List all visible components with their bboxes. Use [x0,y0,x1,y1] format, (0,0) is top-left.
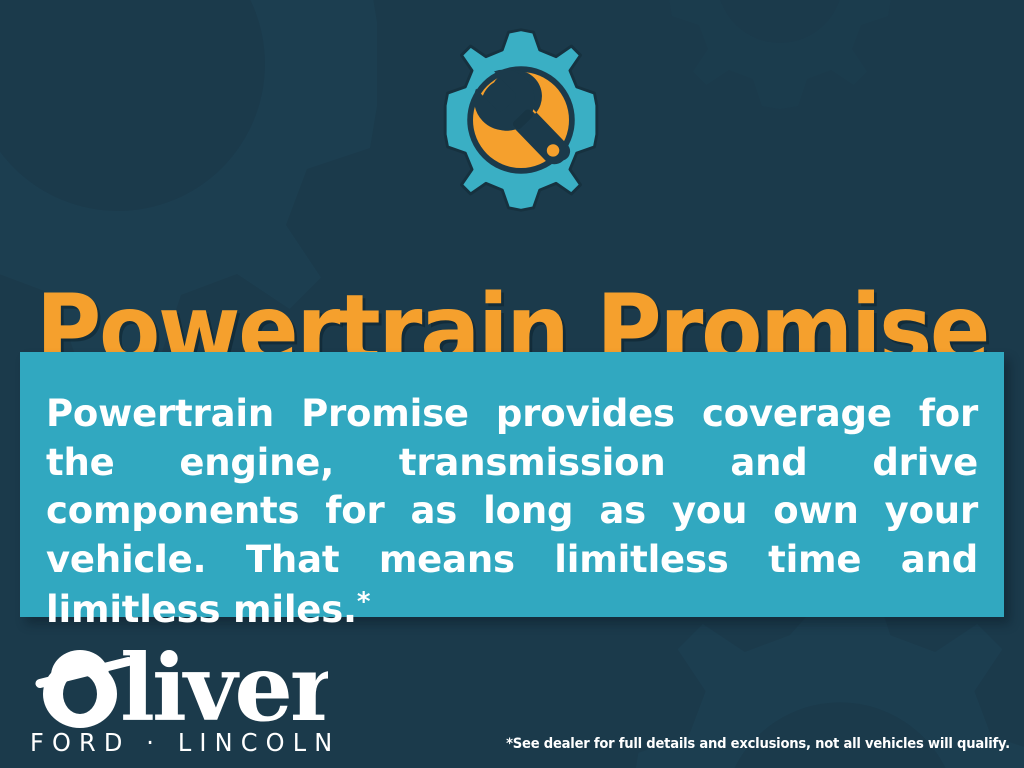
footnote-marker: * [357,587,370,617]
oliver-wordmark: liver [28,638,328,730]
description-paragraph: Powertrain Promise provides coverage for… [46,392,978,631]
description-text: Powertrain Promise provides coverage for… [46,390,978,634]
background-gear-icon [630,0,930,130]
gear-wrench-icon [425,24,617,216]
disclaimer-text: *See dealer for full details and exclusi… [506,736,1010,752]
dealer-logo: liver FORD · LINCOLN [28,638,328,760]
logo-subtitle: FORD · LINCOLN [30,730,340,755]
description-panel: Powertrain Promise provides coverage for… [20,352,1004,617]
powertrain-promise-poster: Powertrain Promise Powertrain Promise pr… [0,0,1024,768]
oliver-liver-letters: liver [120,638,328,730]
